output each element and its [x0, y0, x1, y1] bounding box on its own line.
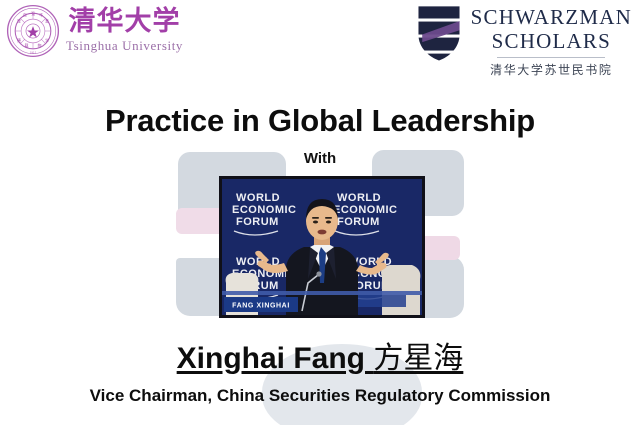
svg-text:学: 学	[45, 38, 49, 43]
svg-text:WORLD: WORLD	[337, 192, 381, 204]
svg-text:FORUM: FORUM	[236, 216, 279, 228]
svg-text:ECONOMIC: ECONOMIC	[333, 204, 398, 216]
schwarzman-wordmark-line2: SCHOLARS	[492, 30, 611, 54]
svg-text:载: 载	[25, 43, 29, 48]
schwarzman-logo: SCHWARZMAN SCHOLARS 清华大学苏世民书院	[416, 4, 632, 78]
svg-text:强: 强	[31, 11, 35, 16]
svg-text:WORLD: WORLD	[236, 192, 280, 204]
svg-text:不: 不	[39, 12, 43, 17]
speaker-name-chinese: 方星海	[373, 341, 463, 376]
schwarzman-chinese-name: 清华大学苏世民书院	[490, 61, 612, 78]
tsinghua-seal-icon: 自 强 不 息 厚 德 载 物 学 1911	[6, 4, 60, 58]
svg-text:1911: 1911	[30, 51, 37, 55]
tsinghua-english-name: Tsinghua University	[66, 38, 183, 54]
svg-text:厚: 厚	[17, 18, 21, 23]
schwarzman-shield-icon	[416, 4, 462, 62]
with-label: With	[0, 150, 640, 167]
speaker-photo: WORLD ECONOMIC FORUM WORLD ECONOMIC FORU…	[219, 176, 425, 318]
svg-text:ECONOMIC: ECONOMIC	[232, 204, 297, 216]
wef-photo-graphic: WORLD ECONOMIC FORUM WORLD ECONOMIC FORU…	[222, 179, 422, 315]
speaker-title: Vice Chairman, China Securities Regulato…	[0, 386, 640, 406]
svg-text:德: 德	[17, 38, 21, 43]
svg-text:物: 物	[38, 43, 42, 48]
speaker-name-english: Xinghai Fang	[177, 342, 374, 375]
schwarzman-wordmark-line1: SCHWARZMAN	[471, 6, 632, 30]
presentation-slide: 自 强 不 息 厚 德 载 物 学 1911 清华大学 Tsinghua Uni…	[0, 0, 640, 425]
photo-nameplate-text: FANG XINGHAI	[232, 303, 290, 310]
svg-text:自: 自	[23, 12, 27, 17]
schwarzman-divider	[497, 57, 605, 58]
speaker-name: Xinghai Fang 方星海	[0, 333, 640, 377]
svg-text:FORUM: FORUM	[337, 216, 380, 228]
tsinghua-logo: 自 强 不 息 厚 德 载 物 学 1911 清华大学 Tsinghua Uni…	[6, 4, 183, 58]
tsinghua-chinese-name: 清华大学	[69, 8, 181, 36]
svg-text:息: 息	[45, 18, 49, 23]
slide-title: Practice in Global Leadership	[0, 103, 640, 139]
